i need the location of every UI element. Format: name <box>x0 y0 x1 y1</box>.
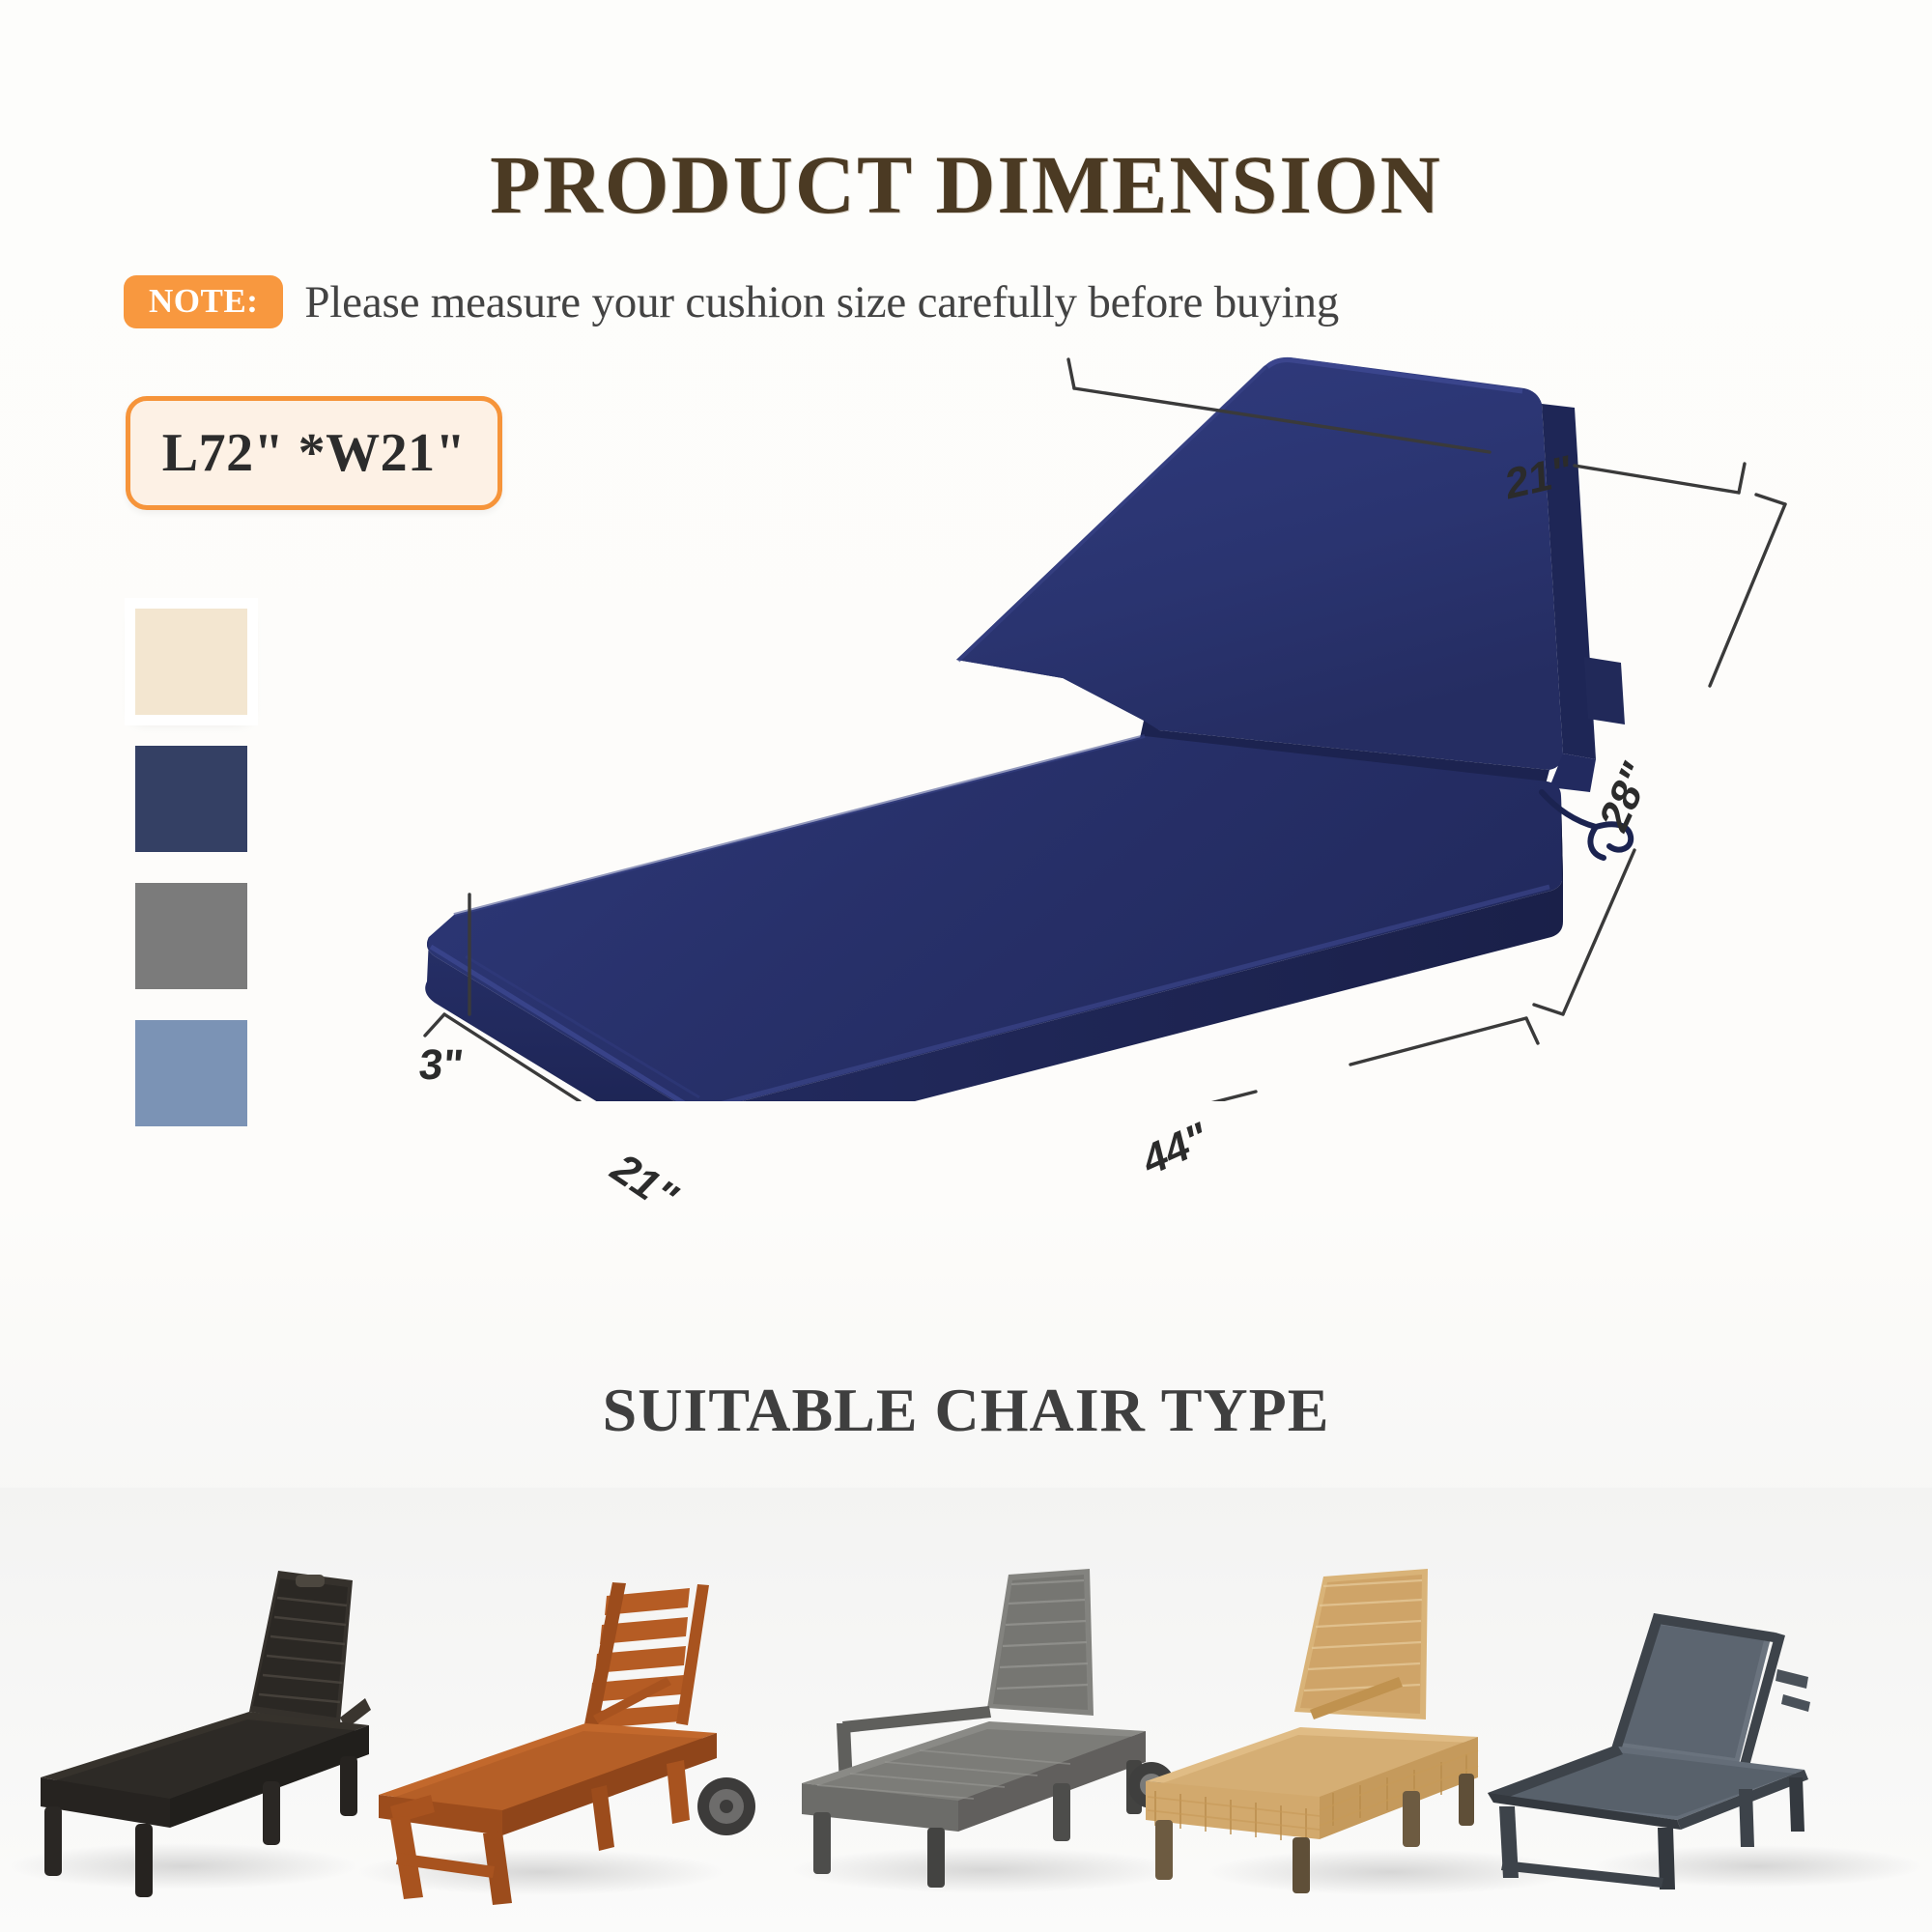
note-badge: NOTE: <box>124 275 283 328</box>
chair-type-gallery <box>0 1488 1932 1932</box>
section-title-suitable-chair-type: SUITABLE CHAIR TYPE <box>0 1379 1932 1441</box>
color-swatch-gray[interactable] <box>135 883 247 989</box>
dimension-label-seat-length: 44" <box>1139 1112 1212 1187</box>
cushion-svg <box>290 338 1855 1101</box>
cushion-illustration <box>290 338 1855 1101</box>
note-text: Please measure your cushion size careful… <box>304 276 1339 328</box>
infographic-page: PRODUCT DIMENSION NOTE: Please measure y… <box>0 0 1932 1932</box>
dimension-label-width-bottom: 21" <box>599 1147 689 1220</box>
cushion-seat <box>417 736 1565 1101</box>
dimension-label-thickness: 3" <box>416 1041 466 1090</box>
color-swatch-light-blue[interactable] <box>135 1020 247 1126</box>
page-title: PRODUCT DIMENSION <box>0 143 1932 226</box>
color-swatch-list <box>135 609 247 1126</box>
color-swatch-beige[interactable] <box>135 609 247 715</box>
color-swatch-navy[interactable] <box>135 746 247 852</box>
note-row: NOTE: Please measure your cushion size c… <box>124 275 1339 328</box>
chairs-svg <box>0 1488 1932 1932</box>
